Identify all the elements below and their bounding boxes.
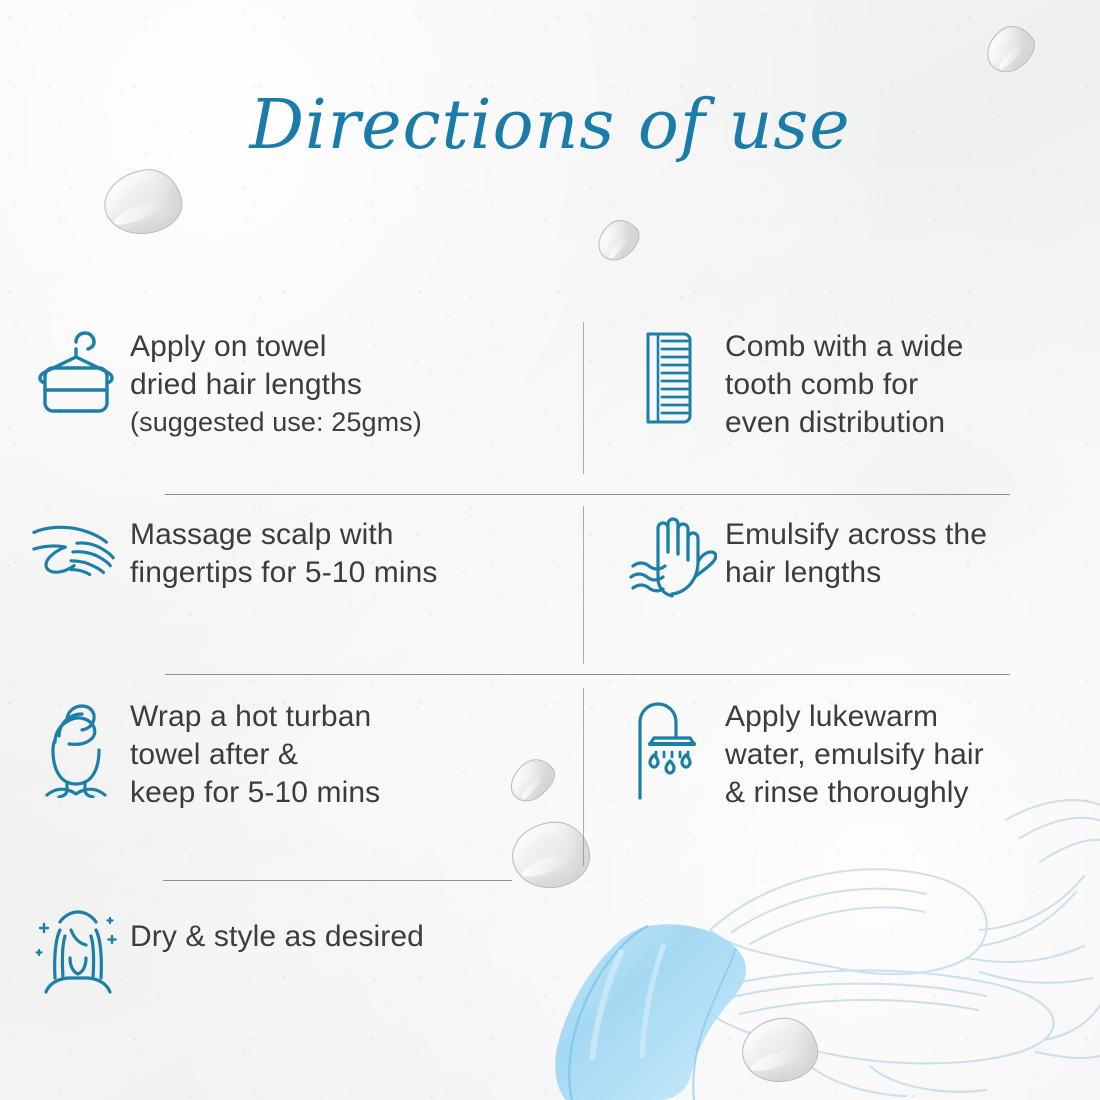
step-line: water, emulsify hair — [725, 736, 984, 774]
steps-row-2: Massage scalp with fingertips for 5-10 m… — [0, 494, 1100, 674]
step-text-1: Apply on towel dried hair lengths (sugge… — [124, 328, 422, 441]
open-palm-wave-icon — [623, 516, 719, 598]
page-title: Directions of use — [0, 86, 1100, 165]
vertical-divider-row-2 — [583, 506, 584, 664]
step-item-2: Comb with a wide tooth comb for even dis… — [583, 300, 1100, 494]
step-note: (suggested use: 25gms) — [130, 404, 422, 441]
step-item-5: Wrap a hot turban towel after & keep for… — [0, 674, 583, 880]
step-line: Wrap a hot turban — [130, 698, 380, 736]
step-line: towel after & — [130, 736, 380, 774]
vertical-divider-row-1 — [583, 322, 584, 474]
steps-row-1: Apply on towel dried hair lengths (sugge… — [0, 300, 1100, 494]
step-item-6: Apply lukewarm water, emulsify hair & ri… — [583, 674, 1100, 880]
wide-tooth-comb-icon — [623, 328, 719, 428]
step-item-3: Massage scalp with fingertips for 5-10 m… — [0, 494, 583, 674]
step-line: even distribution — [725, 404, 963, 442]
steps-row-3: Wrap a hot turban towel after & keep for… — [0, 674, 1100, 880]
step-line: Apply on towel — [130, 328, 422, 366]
step-text-4: Emulsify across the hair lengths — [719, 516, 987, 592]
towel-on-hanger-icon — [28, 328, 124, 416]
step-line: Dry & style as desired — [130, 918, 424, 956]
pebble-top-right — [978, 18, 1043, 81]
pebble-bottom-center — [740, 1015, 820, 1084]
step-item-4: Emulsify across the hair lengths — [583, 494, 1100, 674]
step-line: Apply lukewarm — [725, 698, 984, 736]
shower-head-icon — [623, 698, 719, 802]
step-text-6: Apply lukewarm water, emulsify hair & ri… — [719, 698, 984, 812]
step-line: Massage scalp with — [130, 516, 438, 554]
directions-of-use-panel: Directions of use Apply on towel dried h… — [0, 0, 1100, 1100]
step-text-5: Wrap a hot turban towel after & keep for… — [124, 698, 380, 812]
pebble-upper-left — [100, 165, 186, 239]
steps-row-4: Dry & style as desired — [0, 880, 1100, 1010]
woman-styled-hair-icon — [28, 900, 124, 994]
step-line: hair lengths — [725, 554, 987, 592]
step-line: Emulsify across the — [725, 516, 987, 554]
step-item-1: Apply on towel dried hair lengths (sugge… — [0, 300, 583, 494]
step-line: dried hair lengths — [130, 366, 422, 404]
step-line: Comb with a wide — [725, 328, 963, 366]
step-text-3: Massage scalp with fingertips for 5-10 m… — [124, 516, 438, 592]
massaging-hand-icon — [28, 516, 124, 586]
step-line: & rinse thoroughly — [725, 774, 984, 812]
step-line: tooth comb for — [725, 366, 963, 404]
steps-grid: Apply on towel dried hair lengths (sugge… — [0, 300, 1100, 1010]
step-line: fingertips for 5-10 mins — [130, 554, 438, 592]
step-text-2: Comb with a wide tooth comb for even dis… — [719, 328, 963, 442]
step-text-7: Dry & style as desired — [124, 900, 424, 956]
pebble-upper-center — [590, 212, 647, 267]
vertical-divider-row-3 — [583, 688, 584, 866]
step-line: keep for 5-10 mins — [130, 774, 380, 812]
head-turban-towel-icon — [28, 698, 124, 798]
step-item-7: Dry & style as desired — [0, 880, 583, 1010]
